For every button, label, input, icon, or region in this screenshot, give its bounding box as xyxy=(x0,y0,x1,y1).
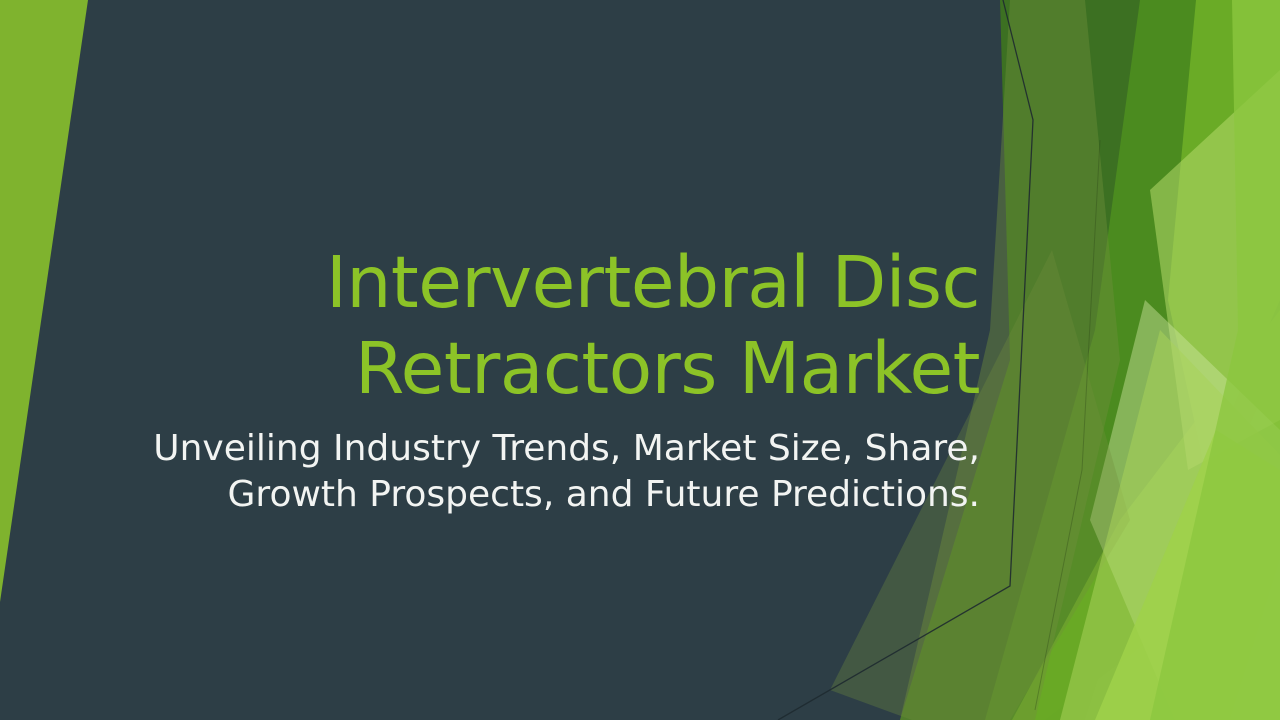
subtitle-line-2: Growth Prospects, and Future Predictions… xyxy=(150,472,980,518)
title-slide: Intervertebral Disc Retractors Market Un… xyxy=(0,0,1280,720)
page-subtitle: Unveiling Industry Trends, Market Size, … xyxy=(150,426,980,518)
slide-text-content: Intervertebral Disc Retractors Market Un… xyxy=(150,240,980,518)
subtitle-line-1: Unveiling Industry Trends, Market Size, … xyxy=(150,426,980,472)
title-line-2: Retractors Market xyxy=(150,326,980,412)
page-title: Intervertebral Disc Retractors Market xyxy=(150,240,980,412)
title-line-1: Intervertebral Disc xyxy=(150,240,980,326)
